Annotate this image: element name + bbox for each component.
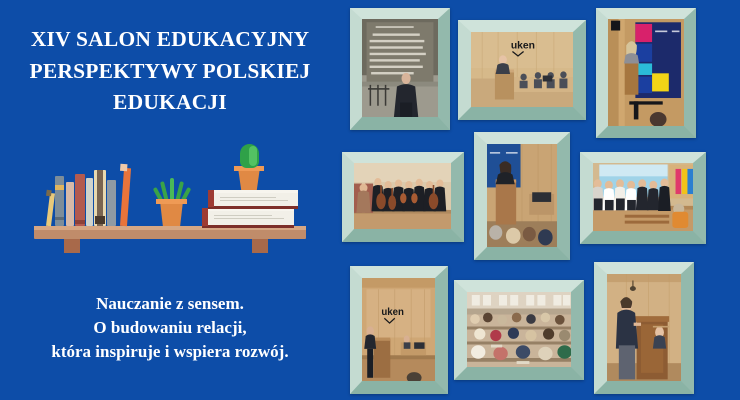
photo-frame-bottom-center[interactable] [454, 280, 584, 380]
event-subtitle: Nauczanie z sensem. O budowaniu relacji,… [0, 292, 340, 364]
photo-speaker-colorful-banner [608, 19, 684, 126]
page-line [220, 197, 276, 198]
book-spine-4 [86, 178, 93, 226]
book-spine-3 [75, 174, 85, 226]
bookshelf-illustration [34, 150, 306, 260]
photo-frame-middle-left[interactable] [342, 152, 464, 242]
photo-frame-middle-right[interactable] [580, 152, 706, 244]
ruler-icon [46, 193, 55, 226]
photo-school-choir-stage [593, 163, 693, 231]
svg-text:uken: uken [381, 307, 404, 318]
stacked-book-lower-spine [202, 208, 208, 226]
svg-text:uken: uken [511, 41, 535, 52]
photo-frame-bottom-right[interactable] [594, 262, 694, 394]
title-line-2: PERSPEKTYWY POLSKIEJ [0, 56, 340, 88]
ruler-tip [46, 190, 52, 197]
book-label-5 [95, 216, 105, 224]
stacked-book-lower-edge [202, 225, 294, 228]
book-spine-7-tip [120, 164, 127, 171]
photo-frame-bottom-left[interactable]: uken [350, 266, 448, 394]
stacked-book-upper-edge [208, 206, 298, 209]
cactus-pot [236, 168, 262, 190]
book-band-1b [55, 217, 64, 220]
book-band-1 [55, 185, 64, 190]
grass-plant-pot-rim [156, 199, 187, 204]
title-line-1: XIV SALON EDUKACYJNY [0, 24, 340, 56]
poster-canvas: XIV SALON EDUKACYJNY PERSPEKTYWY POLSKIE… [0, 0, 740, 400]
page-line [214, 215, 272, 216]
book-spine-2 [66, 182, 74, 226]
photo-frame-top-right[interactable] [596, 8, 696, 138]
photo-uken-hall-podium: uken [362, 278, 435, 381]
subtitle-line-1: Nauczanie z sensem. [0, 292, 340, 316]
photo-speaker-with-slide [362, 19, 438, 117]
shelf-leg-left [64, 239, 80, 253]
page-line [220, 200, 288, 201]
photo-frame-top-center[interactable]: uken [458, 20, 586, 120]
photo-lecture-hall-audience [467, 292, 571, 367]
photo-frame-top-left[interactable] [350, 8, 450, 130]
subtitle-line-3: która inspiruje i wspiera rozwój. [0, 340, 340, 364]
page-line [214, 218, 284, 219]
page-title: XIV SALON EDUKACYJNY PERSPEKTYWY POLSKIE… [0, 24, 340, 119]
subtitle-line-2: O budowaniu relacji, [0, 316, 340, 340]
photo-orchestra-group [354, 163, 451, 229]
shelf-leg-right [252, 239, 268, 253]
text-panel: XIV SALON EDUKACYJNY PERSPEKTYWY POLSKIE… [0, 0, 340, 400]
photo-lecture-podium-audience [487, 144, 557, 247]
photo-uken-podium-panel: uken [471, 32, 573, 107]
title-line-3: EDUKACJI [0, 87, 340, 119]
cactus-highlight [249, 146, 257, 166]
stacked-book-lower [202, 208, 294, 226]
photo-collage: uken [340, 0, 740, 400]
photo-speaker-at-lectern [607, 274, 681, 381]
photo-frame-middle-center[interactable] [474, 132, 570, 260]
book-spine-6 [107, 180, 116, 226]
book-spine-7 [120, 168, 131, 226]
stacked-book-upper [208, 190, 298, 207]
book-band-3 [75, 220, 85, 224]
stacked-book-upper-spine [208, 190, 214, 207]
